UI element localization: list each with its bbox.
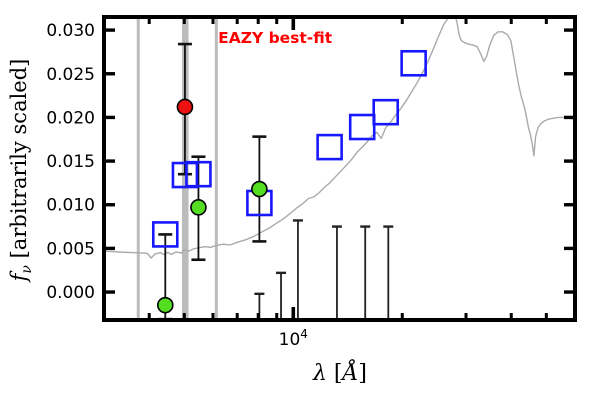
y-tick-label-0: 0.000 bbox=[46, 283, 95, 303]
sed-plot: 0.0000.0050.0100.0150.0200.0250.030 104 … bbox=[0, 0, 600, 400]
y-tick-label-5: 0.025 bbox=[46, 65, 95, 85]
y-tick-label-1: 0.005 bbox=[46, 239, 95, 259]
figure-root: 0.0000.0050.0100.0150.0200.0250.030 104 … bbox=[0, 0, 600, 400]
y-tick-label-2: 0.010 bbox=[46, 196, 95, 216]
x-tick-mantissa: 10 bbox=[279, 330, 301, 350]
observed-point-marker[interactable] bbox=[191, 200, 206, 215]
eazy-best-fit-annotation: EAZY best-fit bbox=[218, 29, 333, 47]
x-tick-exponent: 4 bbox=[300, 327, 308, 341]
observed-point-marker[interactable] bbox=[158, 298, 173, 313]
y-axis-title: fν [arbitrarily scaled] bbox=[7, 59, 35, 284]
y-tick-label-4: 0.020 bbox=[46, 108, 95, 128]
observed-point-marker[interactable] bbox=[177, 99, 192, 114]
observed-point-marker[interactable] bbox=[252, 182, 267, 197]
y-tick-label-6: 0.030 bbox=[46, 21, 95, 41]
x-axis-title: λ [Å] bbox=[312, 358, 367, 386]
y-tick-label-3: 0.015 bbox=[46, 152, 95, 172]
svg-text:fν [arbitrarily scaled]: fν [arbitrarily scaled] bbox=[7, 59, 35, 284]
